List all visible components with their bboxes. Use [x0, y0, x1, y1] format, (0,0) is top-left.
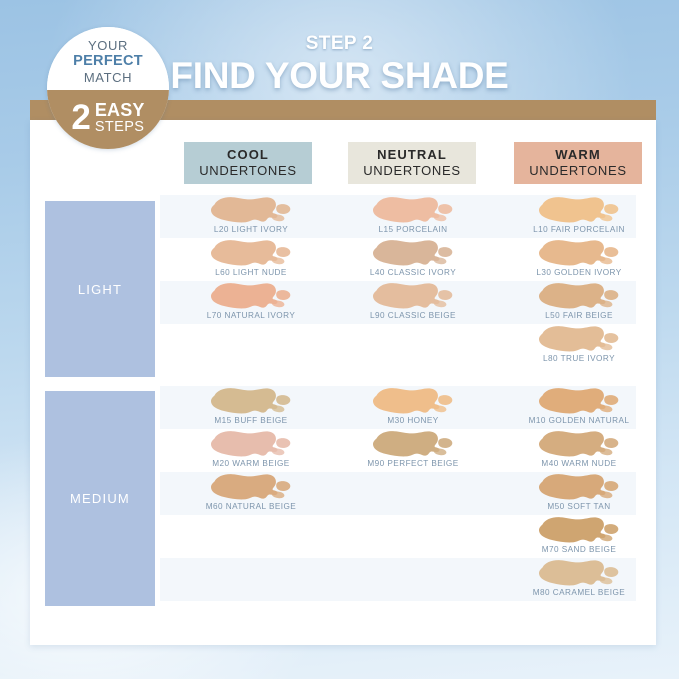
shade-name-label: L20 LIGHT IVORY: [176, 225, 326, 234]
shade-cell[interactable]: M60 NATURAL BEIGE: [176, 472, 326, 515]
column-header-cool-title: COOL: [227, 147, 269, 163]
shade-cell[interactable]: M20 WARM BEIGE: [176, 429, 326, 472]
foundation-swatch-icon: [370, 281, 456, 311]
foundation-swatch-icon: [536, 195, 622, 225]
table-row: L80 TRUE IVORY: [160, 324, 636, 367]
shade-name-label: M70 SAND BEIGE: [504, 545, 654, 554]
shade-cell[interactable]: L70 NATURAL IVORY: [176, 281, 326, 324]
shade-cell[interactable]: M80 CARAMEL BEIGE: [504, 558, 654, 601]
table-row: L20 LIGHT IVORYL15 PORCELAINL10 FAIR POR…: [160, 195, 636, 238]
foundation-swatch-icon: [370, 195, 456, 225]
shade-cell[interactable]: M50 SOFT TAN: [504, 472, 654, 515]
shade-name-label: L30 GOLDEN IVORY: [504, 268, 654, 277]
shade-name-label: L90 CLASSIC BEIGE: [338, 311, 488, 320]
foundation-swatch-icon: [208, 386, 294, 416]
column-header-neutral: NEUTRAL UNDERTONES: [348, 142, 476, 184]
foundation-swatch-icon: [536, 558, 622, 588]
foundation-swatch-icon: [536, 429, 622, 459]
shade-name-label: M30 HONEY: [338, 416, 488, 425]
badge-line-your: YOUR: [88, 38, 128, 53]
shade-cell[interactable]: L10 FAIR PORCELAIN: [504, 195, 654, 238]
perfect-match-badge: YOUR PERFECT MATCH 2 EASY STEPS: [47, 27, 169, 149]
foundation-swatch-icon: [536, 324, 622, 354]
shade-cell[interactable]: L60 LIGHT NUDE: [176, 238, 326, 281]
column-header-warm-title: WARM: [555, 147, 601, 163]
shade-cell[interactable]: L50 FAIR BEIGE: [504, 281, 654, 324]
badge-bottom-half: 2 EASY STEPS: [47, 90, 169, 149]
column-header-cool: COOL UNDERTONES: [184, 142, 312, 184]
shade-cell[interactable]: L90 CLASSIC BEIGE: [338, 281, 488, 324]
shade-cell[interactable]: L15 PORCELAIN: [338, 195, 488, 238]
foundation-swatch-icon: [370, 386, 456, 416]
table-row: M15 BUFF BEIGEM30 HONEYM10 GOLDEN NATURA…: [160, 386, 636, 429]
shade-name-label: M40 WARM NUDE: [504, 459, 654, 468]
shade-cell[interactable]: M30 HONEY: [338, 386, 488, 429]
shade-cell[interactable]: L40 CLASSIC IVORY: [338, 238, 488, 281]
column-header-neutral-subtitle: UNDERTONES: [363, 163, 461, 179]
shade-name-label: L10 FAIR PORCELAIN: [504, 225, 654, 234]
foundation-swatch-icon: [370, 238, 456, 268]
group-label-medium: MEDIUM: [45, 391, 155, 606]
shade-name-label: M80 CARAMEL BEIGE: [504, 588, 654, 597]
shade-cell[interactable]: M90 PERFECT BEIGE: [338, 429, 488, 472]
foundation-swatch-icon: [536, 515, 622, 545]
shade-name-label: M90 PERFECT BEIGE: [338, 459, 488, 468]
shade-name-label: L40 CLASSIC IVORY: [338, 268, 488, 277]
shade-cell[interactable]: L20 LIGHT IVORY: [176, 195, 326, 238]
table-row: M60 NATURAL BEIGEM50 SOFT TAN: [160, 472, 636, 515]
badge-top-half: YOUR PERFECT MATCH: [47, 27, 169, 90]
column-header-neutral-title: NEUTRAL: [377, 147, 447, 163]
shade-cell[interactable]: L80 TRUE IVORY: [504, 324, 654, 367]
foundation-swatch-icon: [536, 386, 622, 416]
shade-cell[interactable]: L30 GOLDEN IVORY: [504, 238, 654, 281]
column-header-warm: WARM UNDERTONES: [514, 142, 642, 184]
shade-cell[interactable]: M40 WARM NUDE: [504, 429, 654, 472]
shade-cell[interactable]: M10 GOLDEN NATURAL: [504, 386, 654, 429]
shade-name-label: L50 FAIR BEIGE: [504, 311, 654, 320]
foundation-swatch-icon: [208, 281, 294, 311]
foundation-swatch-icon: [208, 472, 294, 502]
badge-line-easy: EASY: [95, 101, 145, 119]
table-row: M80 CARAMEL BEIGE: [160, 558, 636, 601]
shade-name-label: M20 WARM BEIGE: [176, 459, 326, 468]
badge-easy-steps: EASY STEPS: [95, 101, 145, 135]
shade-cell[interactable]: M15 BUFF BEIGE: [176, 386, 326, 429]
table-row: M20 WARM BEIGEM90 PERFECT BEIGEM40 WARM …: [160, 429, 636, 472]
shade-name-label: M60 NATURAL BEIGE: [176, 502, 326, 511]
shade-cell[interactable]: M70 SAND BEIGE: [504, 515, 654, 558]
table-row: L70 NATURAL IVORYL90 CLASSIC BEIGEL50 FA…: [160, 281, 636, 324]
badge-number: 2: [71, 101, 90, 135]
column-header-cool-subtitle: UNDERTONES: [199, 163, 297, 179]
shade-name-label: L80 TRUE IVORY: [504, 354, 654, 363]
foundation-swatch-icon: [536, 238, 622, 268]
foundation-swatch-icon: [370, 429, 456, 459]
shade-grid: L20 LIGHT IVORYL15 PORCELAINL10 FAIR POR…: [160, 195, 636, 610]
badge-line-perfect: PERFECT: [73, 53, 143, 70]
group-label-light: LIGHT: [45, 201, 155, 377]
badge-line-match: MATCH: [84, 70, 132, 86]
shade-name-label: M15 BUFF BEIGE: [176, 416, 326, 425]
foundation-swatch-icon: [208, 429, 294, 459]
column-header-warm-subtitle: UNDERTONES: [529, 163, 627, 179]
foundation-swatch-icon: [536, 281, 622, 311]
shade-name-label: M50 SOFT TAN: [504, 502, 654, 511]
shade-name-label: M10 GOLDEN NATURAL: [504, 416, 654, 425]
table-row: L60 LIGHT NUDEL40 CLASSIC IVORYL30 GOLDE…: [160, 238, 636, 281]
shade-name-label: L70 NATURAL IVORY: [176, 311, 326, 320]
foundation-swatch-icon: [208, 195, 294, 225]
shade-name-label: L15 PORCELAIN: [338, 225, 488, 234]
shade-name-label: L60 LIGHT NUDE: [176, 268, 326, 277]
foundation-swatch-icon: [536, 472, 622, 502]
badge-line-steps: STEPS: [95, 120, 145, 135]
foundation-swatch-icon: [208, 238, 294, 268]
table-row: M70 SAND BEIGE: [160, 515, 636, 558]
